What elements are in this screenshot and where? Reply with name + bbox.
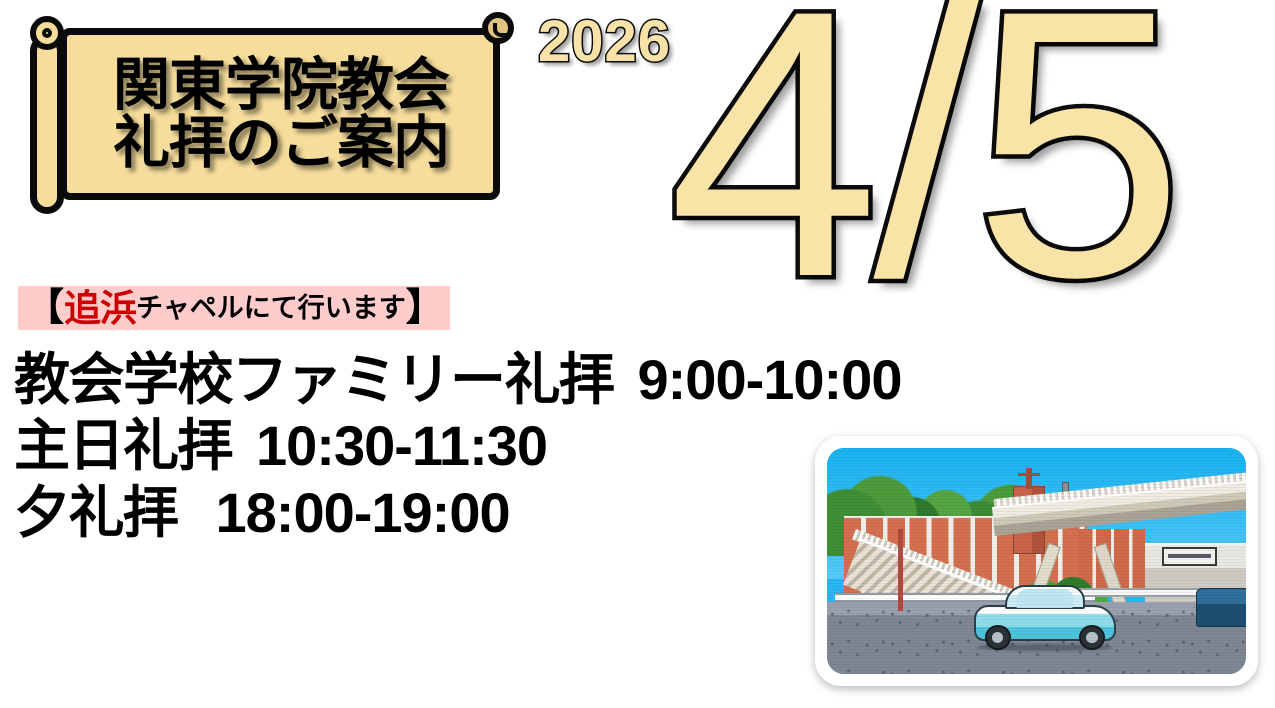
photo-car-wheel-front bbox=[985, 625, 1011, 650]
year-label: 2026 bbox=[538, 8, 671, 75]
chapel-photo-card bbox=[815, 436, 1258, 686]
scroll-roll-left bbox=[30, 34, 64, 214]
banner-title-line1: 関東学院教会 bbox=[113, 56, 449, 114]
location-rest-text: チャペルにて行います bbox=[136, 295, 406, 322]
service-row: 教会学校ファミリー礼拝 9:00-10:00 bbox=[14, 350, 1204, 410]
photo-utility-pole bbox=[898, 529, 903, 610]
banner-title-line2: 礼拝のご案内 bbox=[113, 114, 449, 172]
photo-dark-car bbox=[1196, 588, 1246, 626]
scroll-banner: 関東学院教会 礼拝のご案内 bbox=[12, 8, 522, 220]
service-name: 主日礼拝 bbox=[14, 416, 232, 476]
chapel-photo-image bbox=[827, 448, 1246, 674]
photo-blue-car bbox=[974, 579, 1116, 651]
location-open-bracket: 【 bbox=[26, 289, 64, 327]
photo-car-window bbox=[1016, 589, 1073, 608]
location-place: 追浜 bbox=[64, 290, 136, 327]
service-announcement-poster: 関東学院教会 礼拝のご案内 2026 4/5 【 追浜 チャペルにて行います 】… bbox=[0, 0, 1275, 708]
service-name: 夕礼拝 bbox=[14, 483, 178, 543]
service-time: 18:00-19:00 bbox=[216, 483, 510, 543]
service-name: 教会学校ファミリー礼拝 bbox=[14, 350, 614, 410]
location-close-bracket: 】 bbox=[406, 289, 444, 327]
cross-icon bbox=[1026, 468, 1031, 488]
cross-icon-bar bbox=[1018, 473, 1040, 476]
service-time: 10:30-11:30 bbox=[256, 416, 547, 476]
photo-roadside-sign bbox=[1162, 547, 1216, 565]
location-note: 【 追浜 チャペルにて行います 】 bbox=[18, 286, 450, 330]
photo-car-wheel-rear bbox=[1079, 625, 1105, 650]
banner-text-group: 関東学院教会 礼拝のご案内 bbox=[74, 32, 488, 196]
service-time: 9:00-10:00 bbox=[638, 350, 902, 410]
date-display: 4/5 bbox=[668, 0, 1178, 334]
scroll-curl-left-icon bbox=[30, 16, 64, 50]
